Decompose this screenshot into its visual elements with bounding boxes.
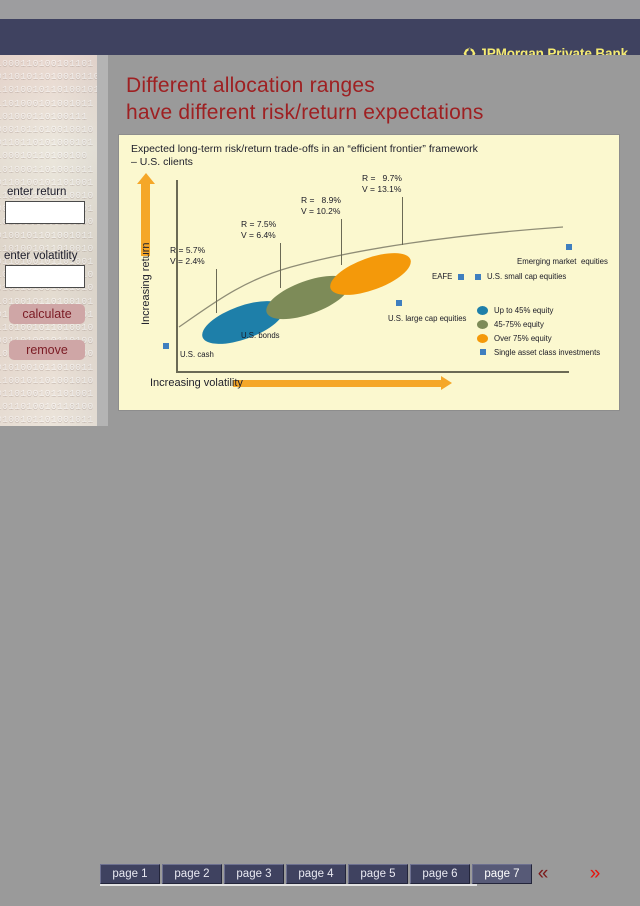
page-title-line1: Different allocation ranges	[126, 72, 626, 99]
annotation-band-4: R = 9.7% V = 13.1%	[362, 173, 402, 194]
tabs-underline	[100, 884, 477, 886]
previous-page-button[interactable]: «	[523, 862, 563, 886]
legend-swatch-45-75	[477, 320, 488, 329]
return-input[interactable]	[5, 201, 85, 224]
legend-item-up-to-45: Up to 45% equity	[477, 303, 600, 317]
marker-emerging-market	[566, 244, 572, 250]
window-top-strip	[0, 0, 640, 19]
volatility-input[interactable]	[5, 265, 85, 288]
annotation-band-1: R = 5.7% V = 2.4%	[170, 245, 205, 266]
next-page-button[interactable]: »	[575, 862, 615, 886]
remove-button[interactable]: remove	[9, 340, 85, 360]
label-emerging-market: Emerging market	[517, 257, 576, 266]
slide-content-area: Different allocation ranges have differe…	[108, 55, 640, 426]
legend-label-single-asset: Single asset class investments	[494, 348, 600, 357]
page-tab-4[interactable]: page 4	[286, 864, 346, 884]
legend-item-over-75: Over 75% equity	[477, 331, 600, 345]
page-tab-1[interactable]: page 1	[100, 864, 160, 884]
page-tab-6[interactable]: page 6	[410, 864, 470, 884]
legend-label-over-75: Over 75% equity	[494, 334, 552, 343]
chart-legend: Up to 45% equity 45-75% equity Over 75% …	[477, 303, 600, 359]
efficient-frontier-plot: Increasing return Increasing volatility …	[119, 135, 619, 410]
y-axis-label: Increasing return	[140, 242, 152, 325]
page-title-line2: have different risk/return expectations	[126, 99, 626, 126]
x-axis-line	[176, 371, 569, 373]
enter-volatility-label: enter volatitlity	[4, 250, 78, 262]
panel-edge-strip	[97, 55, 108, 426]
bottom-filler-bar	[0, 892, 640, 906]
legend-item-45-75: 45-75% equity	[477, 317, 600, 331]
calculate-button[interactable]: calculate	[9, 304, 85, 324]
x-axis-label: Increasing volatility	[150, 377, 243, 389]
annotation-band-3-volatility: V = 10.2%	[301, 206, 340, 216]
leader-line-band-3	[341, 219, 342, 265]
legend-item-single-asset: Single asset class investments	[477, 345, 600, 359]
annotation-band-3-return: R = 8.9%	[301, 195, 341, 205]
increasing-volatility-arrow-icon	[233, 380, 442, 387]
annotation-band-1-return: R = 5.7%	[170, 245, 205, 255]
label-emerging-market-equities: equities	[581, 257, 608, 266]
legend-swatch-single-asset	[480, 349, 486, 355]
leader-line-band-4	[402, 197, 403, 245]
annotation-band-2-volatility: V = 6.4%	[241, 230, 276, 240]
annotation-band-2-return: R = 7.5%	[241, 219, 276, 229]
page-tab-5[interactable]: page 5	[348, 864, 408, 884]
bottom-navigation-bar: page 1page 2page 3page 4page 5page 6page…	[0, 426, 640, 480]
chart-card: Expected long-term risk/return trade-off…	[119, 135, 619, 410]
legend-label-up-to-45: Up to 45% equity	[494, 306, 553, 315]
marker-eafe	[458, 274, 464, 280]
label-eafe: EAFE	[432, 272, 452, 281]
leader-line-band-2	[280, 243, 281, 288]
label-us-small-cap: U.S. small cap equities	[487, 272, 566, 281]
label-us-cash: U.S. cash	[180, 350, 214, 359]
leader-line-band-1	[216, 269, 217, 313]
app-header: JPMorgan Private Bank	[0, 19, 640, 55]
legend-label-45-75: 45-75% equity	[494, 320, 544, 329]
annotation-band-4-return: R = 9.7%	[362, 173, 402, 183]
page-title: Different allocation ranges have differe…	[126, 72, 626, 126]
annotation-band-4-volatility: V = 13.1%	[362, 184, 401, 194]
marker-us-cash	[163, 343, 169, 349]
annotation-band-2: R = 7.5% V = 6.4%	[241, 219, 276, 240]
marker-us-large-cap	[396, 300, 402, 306]
annotation-band-3: R = 8.9% V = 10.2%	[301, 195, 341, 216]
page-tabs: page 1page 2page 3page 4page 5page 6page…	[100, 864, 532, 884]
page-tab-3[interactable]: page 3	[224, 864, 284, 884]
label-us-bonds: U.S. bonds	[241, 331, 280, 340]
legend-swatch-up-to-45	[477, 306, 488, 315]
enter-return-label: enter return	[7, 186, 66, 198]
presentation-window: JPMorgan Private Bank 1000110100101101 0…	[0, 0, 640, 480]
label-us-large-cap: U.S. large cap equities	[388, 314, 466, 323]
annotation-band-1-volatility: V = 2.4%	[170, 256, 205, 266]
marker-us-small-cap	[475, 274, 481, 280]
page-tab-2[interactable]: page 2	[162, 864, 222, 884]
legend-swatch-over-75	[477, 334, 488, 343]
